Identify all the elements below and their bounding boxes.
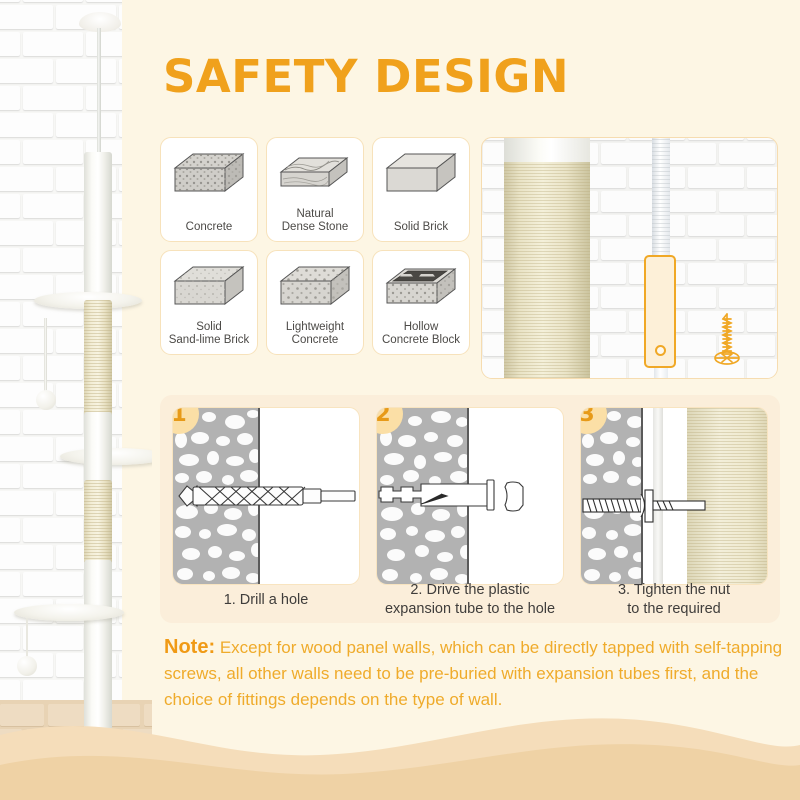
brick (0, 32, 20, 56)
brick (0, 626, 20, 650)
brick (23, 464, 83, 488)
step-caption-2: 2. Drive the plastic expansion tube to t… (370, 581, 570, 619)
post-segment-sisal-lower (84, 480, 112, 568)
step-card-1[interactable]: 1 (172, 407, 360, 585)
brick (86, 32, 122, 56)
brick (0, 59, 53, 83)
material-label: Solid Brick (394, 221, 448, 234)
material-label: LightweightConcrete (286, 321, 344, 347)
natural-dense-stone-icon (277, 146, 353, 198)
brick (0, 491, 53, 515)
brick (86, 0, 122, 2)
brick (747, 215, 777, 236)
step-caption-1: 1. Drill a hole (166, 591, 366, 610)
brick (719, 191, 775, 212)
sisal-scratching-post (504, 137, 590, 379)
brick (0, 356, 20, 380)
brick (719, 287, 775, 308)
brick (0, 302, 20, 326)
brick (747, 311, 777, 332)
brick (119, 59, 122, 83)
brick (601, 143, 657, 164)
material-label: SolidSand-lime Brick (169, 321, 250, 347)
step-caption-3: 3. Tighten the nut to the required (574, 581, 774, 619)
brick (688, 167, 744, 188)
brick (0, 545, 53, 569)
brick (0, 140, 20, 164)
brick (56, 59, 116, 83)
material-card-row-1: Concrete NaturalDense Stone (160, 137, 470, 242)
brick (0, 437, 53, 461)
brick (747, 138, 777, 140)
brick (56, 113, 116, 137)
brick (119, 221, 122, 245)
brick (0, 0, 20, 2)
brick (601, 191, 657, 212)
brick (23, 86, 83, 110)
brick (23, 248, 83, 272)
platform-1 (14, 604, 124, 621)
toy-ball-upper (36, 390, 56, 410)
brick (23, 356, 83, 380)
brick (0, 518, 20, 542)
brick (119, 383, 122, 407)
screw-icon (710, 310, 744, 372)
brick (23, 194, 83, 218)
brick (0, 410, 20, 434)
brick (0, 5, 53, 29)
material-card-natural-dense-stone[interactable]: NaturalDense Stone (266, 137, 364, 242)
material-card-concrete[interactable]: Concrete (160, 137, 258, 242)
material-label: NaturalDense Stone (282, 208, 349, 234)
brick (688, 215, 744, 236)
material-card-solid-sand-lime-brick[interactable]: SolidSand-lime Brick (160, 250, 258, 355)
brick (23, 518, 83, 542)
brick (119, 329, 122, 353)
brick (747, 263, 777, 284)
material-card-lightweight-concrete[interactable]: LightweightConcrete (266, 250, 364, 355)
screw-nut-icon (581, 486, 711, 528)
material-card-hollow-concrete-block[interactable]: HollowConcrete Block (372, 250, 470, 355)
brick (86, 86, 122, 110)
brick (23, 140, 83, 164)
brick (747, 167, 777, 188)
white-tube-pole (652, 137, 670, 264)
post-segment-sisal-upper (84, 300, 112, 418)
decorative-waves (0, 665, 800, 800)
brick-row (0, 57, 122, 87)
brick (119, 167, 122, 191)
brick-row (0, 111, 122, 141)
brick (119, 113, 122, 137)
post-top-cap (504, 137, 590, 162)
material-label: Concrete (186, 221, 233, 234)
brick (747, 359, 777, 378)
brick (719, 143, 775, 164)
note-label: Note: (164, 636, 215, 658)
safety-design-infographic: SAFETY DESIGN Concrete (0, 0, 800, 800)
mounting-bracket-icon (644, 255, 676, 368)
brick-row (0, 30, 122, 60)
solid-sand-lime-brick-icon (171, 259, 247, 311)
brick (23, 32, 83, 56)
tension-rod (97, 28, 101, 156)
brick (0, 86, 20, 110)
concrete-block-icon (171, 146, 247, 198)
solid-brick-icon (383, 146, 459, 198)
step-card-2[interactable]: 2 (376, 407, 564, 585)
lightweight-concrete-icon (277, 259, 353, 311)
brick (0, 248, 20, 272)
page-title: SAFETY DESIGN (163, 50, 569, 103)
brick (0, 167, 53, 191)
expansion-tube-icon (376, 478, 564, 516)
brick (719, 239, 775, 260)
mounting-photo-panel (481, 137, 778, 379)
post-segment-white-top (84, 152, 112, 304)
brick (0, 194, 20, 218)
brick (688, 263, 744, 284)
material-label: HollowConcrete Block (382, 321, 460, 347)
brick-row (0, 84, 122, 114)
brick (0, 113, 53, 137)
brick (119, 491, 122, 515)
brick (0, 464, 20, 488)
step-card-3[interactable]: 3 (580, 407, 768, 585)
brick (23, 572, 83, 596)
brick (0, 221, 53, 245)
brick (23, 0, 83, 2)
bracket-hole-icon (655, 345, 666, 356)
brick (688, 138, 744, 140)
material-card-solid-brick[interactable]: Solid Brick (372, 137, 470, 242)
brick (23, 626, 83, 650)
installation-steps-band: 1 1. Drill a hole (160, 395, 780, 623)
dangle-rod (44, 318, 47, 396)
brick (23, 410, 83, 434)
brick (119, 545, 122, 569)
brick (0, 572, 20, 596)
material-card-grid: Concrete NaturalDense Stone (160, 137, 470, 363)
material-card-row-2: SolidSand-lime Brick LightweightConcre (160, 250, 470, 355)
drill-bit-icon (175, 474, 359, 518)
hollow-concrete-block-icon (383, 259, 459, 311)
